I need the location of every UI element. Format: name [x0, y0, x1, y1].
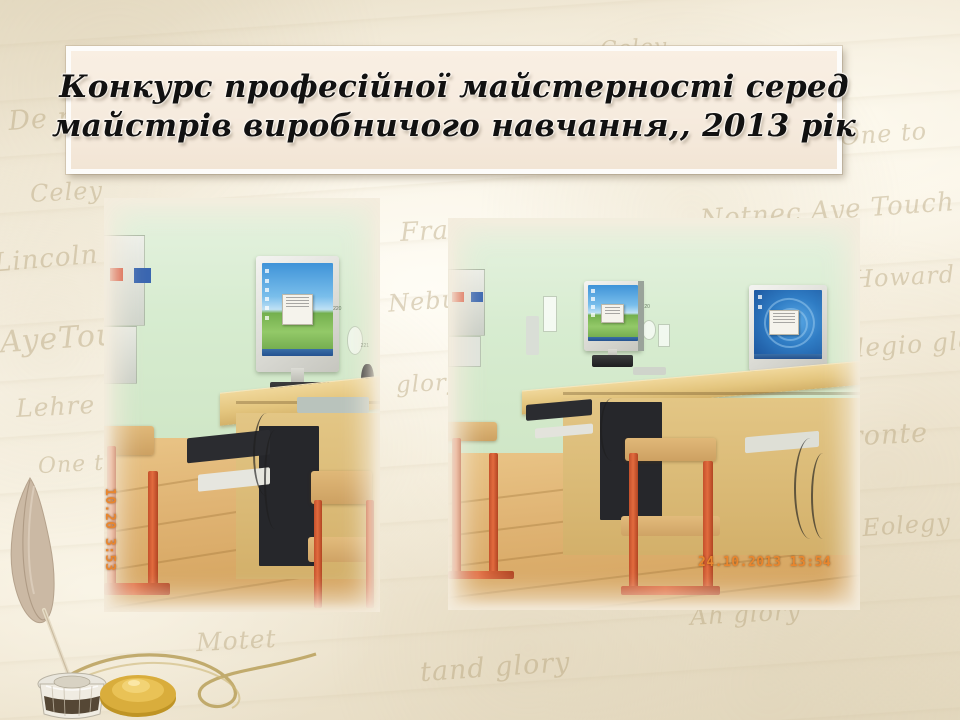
dialog-window [769, 310, 799, 335]
photo-timestamp: 24.10.2013 13:54 [698, 555, 831, 570]
outlet-label: 220 [333, 306, 341, 312]
chair-leg [314, 500, 322, 608]
chair-foot-rail [104, 583, 170, 595]
slide-title-line-2: майстрів виробничого навчання,, 2013 рік [52, 107, 856, 146]
monitor-screen [754, 290, 821, 359]
photo-right[interactable]: 220 [448, 218, 860, 610]
desk-edge-shadow [563, 392, 860, 395]
wall-equipment [448, 269, 485, 336]
desktop-icon [265, 297, 269, 301]
monitor-screen [262, 263, 333, 356]
inkwell-gold-lid [100, 675, 176, 717]
wall-outlet [642, 320, 656, 340]
monitor-neck [291, 368, 304, 383]
desktop-icon [265, 316, 269, 320]
monitor-base [592, 355, 633, 367]
indicator-red [452, 292, 464, 302]
indicator-blue [471, 292, 483, 302]
chair-foot-rail [448, 571, 514, 580]
indicator-red [110, 268, 124, 280]
power-cable [600, 398, 625, 461]
desktop-icon [265, 306, 269, 310]
chair-leg [489, 453, 498, 578]
chair-back-woman [625, 438, 716, 462]
chair-leg [629, 453, 638, 594]
taskbar [754, 354, 821, 359]
wall-switch [658, 324, 670, 348]
desktop-icon [758, 305, 762, 309]
photo-right-scene: 220 [448, 218, 860, 610]
title-plaque: Конкурс професійної майстерності серед м… [66, 46, 842, 174]
mouse-area [633, 367, 666, 375]
monitor-blue [749, 285, 827, 371]
monitor-xp-middle [584, 281, 642, 352]
inkwell [38, 673, 106, 719]
desktop-icon [591, 313, 595, 317]
desktop-icon [265, 288, 269, 292]
dialog-window [601, 304, 624, 323]
photo-timestamp: 10.20 3:53 [104, 488, 117, 571]
taskbar [588, 337, 638, 341]
taskbar [262, 349, 333, 355]
monitor-screen [588, 285, 638, 341]
wall-switch [543, 296, 557, 331]
desktop-icon [265, 269, 269, 273]
chair-foot-rail [621, 586, 720, 595]
keyboard-far [297, 397, 369, 414]
wall-equipment-lower [104, 326, 137, 384]
chair-leg [703, 461, 712, 594]
desktop-icon [265, 279, 269, 283]
outlet-label: 221 [361, 343, 369, 349]
monitor-side [638, 281, 644, 352]
wall-equipment-lower [448, 336, 481, 367]
slide-title-line-1: Конкурс професійної майстерності серед [59, 68, 849, 107]
presentation-slide: De me a Philosophy Celey Lincoln AyeTouc… [0, 0, 960, 720]
title-plaque-inner: Конкурс професійної майстерності серед м… [71, 51, 837, 169]
desktop-icon [758, 295, 762, 299]
chair-leg [452, 438, 461, 579]
desktop-icon [591, 289, 595, 293]
power-cable [811, 453, 836, 539]
chair-leg [148, 471, 158, 595]
indicator-blue [134, 268, 151, 282]
desktop-icon [591, 305, 595, 309]
quill-feather [11, 478, 72, 684]
desktop-icon [591, 297, 595, 301]
chair-leg [366, 500, 374, 608]
dispenser [526, 316, 538, 355]
monitor-xp [256, 256, 339, 372]
dialog-window [282, 294, 313, 326]
